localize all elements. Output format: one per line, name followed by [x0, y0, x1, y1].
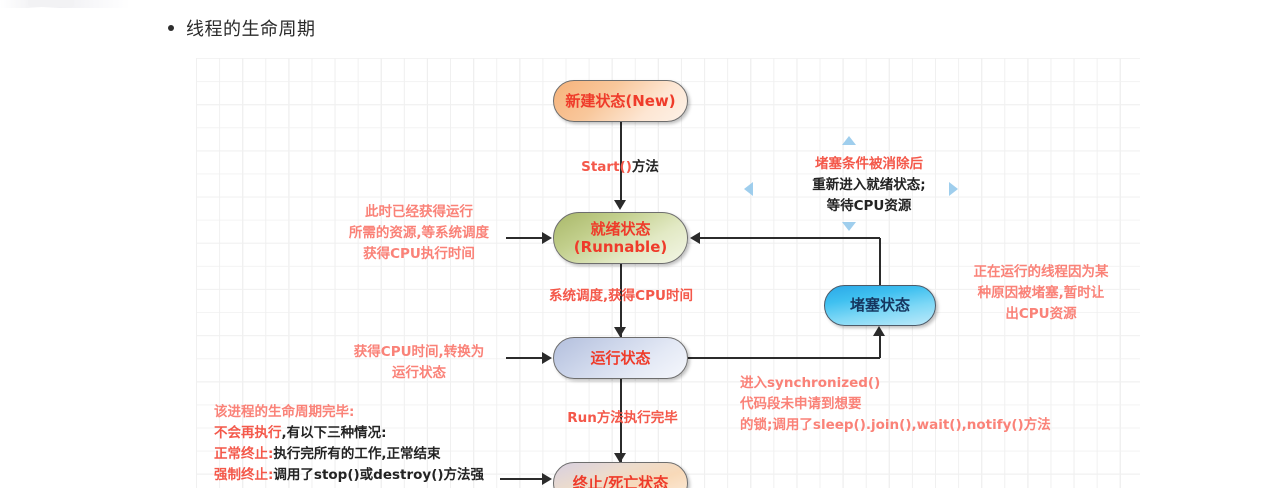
node-running-state-label: 运行状态 [590, 349, 650, 367]
annotation-blocked-reason-line3-part3: 方法 [1024, 417, 1051, 433]
edge-running-to-blocked-h [688, 357, 880, 359]
annotation-dead-detail-line1: 该进程的生命周期完毕: [214, 402, 514, 423]
node-blocked-state[interactable]: 堵塞状态 [824, 285, 936, 326]
arrowhead-running-to-blocked [873, 326, 885, 336]
edge-blocked-to-runnable-v [879, 238, 881, 286]
arrowhead-left-note-to-runnable [542, 232, 552, 244]
annotation-blocked-reason-line3: 的锁;调用了sleep().join(),wait(),notify()方法 [740, 415, 1070, 436]
selection-handle-left-icon[interactable] [744, 182, 753, 196]
bullet-dot-icon [168, 25, 174, 31]
annotation-blocked-right-line1: 正在运行的线程因为某 [948, 262, 1134, 283]
node-runnable-state[interactable]: 就绪状态 (Runnable) [553, 212, 688, 264]
annotation-blocked-right: 正在运行的线程因为某 种原因被堵塞,暂时让 出CPU资源 [948, 262, 1134, 325]
node-blocked-state-label: 堵塞状态 [850, 296, 910, 314]
edge-label-run-finished: Run方法执行完毕 [540, 408, 705, 429]
annotation-blocked-right-line3: 出CPU资源 [948, 304, 1134, 325]
annotation-ready-left-line3: 获得CPU执行时间 [330, 244, 508, 265]
annotation-to-running-left-line2: 运行状态 [330, 363, 508, 384]
node-runnable-state-label-2: (Runnable) [574, 238, 667, 256]
annotation-blocked-reason-line1: 进入synchronized() [740, 373, 1070, 394]
annotation-dead-detail-line2: 不会再执行,有以下三种情况: [214, 423, 514, 444]
annotation-dead-detail-line3-red: 正常终止: [214, 446, 273, 462]
node-new-state[interactable]: 新建状态(New) [553, 80, 688, 122]
annotation-to-running-left: 获得CPU时间,转换为 运行状态 [330, 342, 508, 384]
edge-label-schedule-cpu-text: 系统调度,获得CPU时间 [549, 288, 693, 304]
annotation-dead-detail-line2-red: 不会再执行 [214, 425, 282, 441]
screenshot-root: 线程的生命周期 新建状态(New) 就绪状态 (Runnable) 运行状态 堵… [0, 0, 1280, 488]
annotation-to-running-left-line1: 获得CPU时间,转换为 [330, 342, 508, 363]
arrowhead-left-note-to-running [542, 352, 552, 364]
edge-label-run-finished-dark: 方法执行完毕 [597, 410, 678, 426]
arrowhead-blocked-to-runnable [690, 232, 700, 244]
annotation-unblock-right-line1: 堵塞条件被消除后 [762, 154, 976, 175]
annotation-ready-left-line2: 所需的资源,等系统调度 [330, 223, 508, 244]
node-new-state-label: 新建状态(New) [565, 92, 675, 110]
annotation-blocked-reason-line2: 代码段未申请到想要 [740, 394, 1070, 415]
annotation-ready-left: 此时已经获得运行 所需的资源,等系统调度 获得CPU执行时间 [330, 202, 508, 265]
edge-running-to-blocked-v [879, 336, 881, 358]
annotation-unblock-right: 堵塞条件被消除后 重新进入就绪状态; 等待CPU资源 [762, 154, 976, 217]
annotation-dead-detail-line4-dark: 调用了stop()或destroy()方法强 [273, 467, 484, 483]
annotation-ready-left-line1: 此时已经获得运行 [330, 202, 508, 223]
node-dead-state-label: 终止/死亡状态 [573, 474, 668, 488]
bullet-heading: 线程的生命周期 [168, 15, 316, 41]
edge-label-run-finished-red: Run [567, 410, 597, 426]
arrowhead-runnable-to-running [614, 327, 626, 337]
node-dead-state[interactable]: 终止/死亡状态 [553, 462, 688, 488]
annotation-dead-detail-line2-dark: ,有以下三种情况: [282, 425, 387, 441]
edge-blocked-to-runnable-h [700, 237, 880, 239]
edge-label-start-method-red: Start() [581, 159, 632, 175]
annotation-blocked-reason-line3-part1: 的锁;调用了 [740, 417, 813, 433]
annotation-blocked-reason-line3-part2: sleep().join(),wait(),notify() [813, 417, 1024, 433]
annotation-unblock-right-line2: 重新进入就绪状态; [762, 175, 976, 196]
annotation-blocked-right-line2: 种原因被堵塞,暂时让 [948, 283, 1134, 304]
selection-handle-top-icon[interactable] [842, 136, 856, 145]
annotation-dead-detail-line3: 正常终止:执行完所有的工作,正常结束 [214, 444, 514, 465]
edge-label-start-method: Start()方法 [555, 157, 685, 178]
edge-label-start-method-dark: 方法 [632, 159, 659, 175]
annotation-dead-detail-line4-red: 强制终止: [214, 467, 273, 483]
browser-tab-ghost [28, 0, 74, 7]
annotation-dead-detail-line3-dark: 执行完所有的工作,正常结束 [273, 446, 440, 462]
annotation-dead-detail: 该进程的生命周期完毕: 不会再执行,有以下三种情况: 正常终止:执行完所有的工作… [214, 402, 514, 486]
bullet-heading-label: 线程的生命周期 [186, 15, 316, 41]
arrowhead-new-to-runnable [614, 200, 626, 210]
selection-handle-bottom-icon[interactable] [842, 222, 856, 231]
node-running-state[interactable]: 运行状态 [553, 337, 688, 379]
arrowhead-dead-note-to-dead [542, 473, 552, 485]
annotation-dead-detail-line4: 强制终止:调用了stop()或destroy()方法强 [214, 465, 514, 486]
node-runnable-state-label: 就绪状态 [590, 220, 650, 238]
annotation-unblock-right-line3: 等待CPU资源 [762, 196, 976, 217]
annotation-blocked-reason: 进入synchronized() 代码段未申请到想要 的锁;调用了sleep()… [740, 373, 1070, 436]
selection-handle-right-icon[interactable] [949, 182, 958, 196]
edge-label-schedule-cpu: 系统调度,获得CPU时间 [516, 286, 726, 307]
